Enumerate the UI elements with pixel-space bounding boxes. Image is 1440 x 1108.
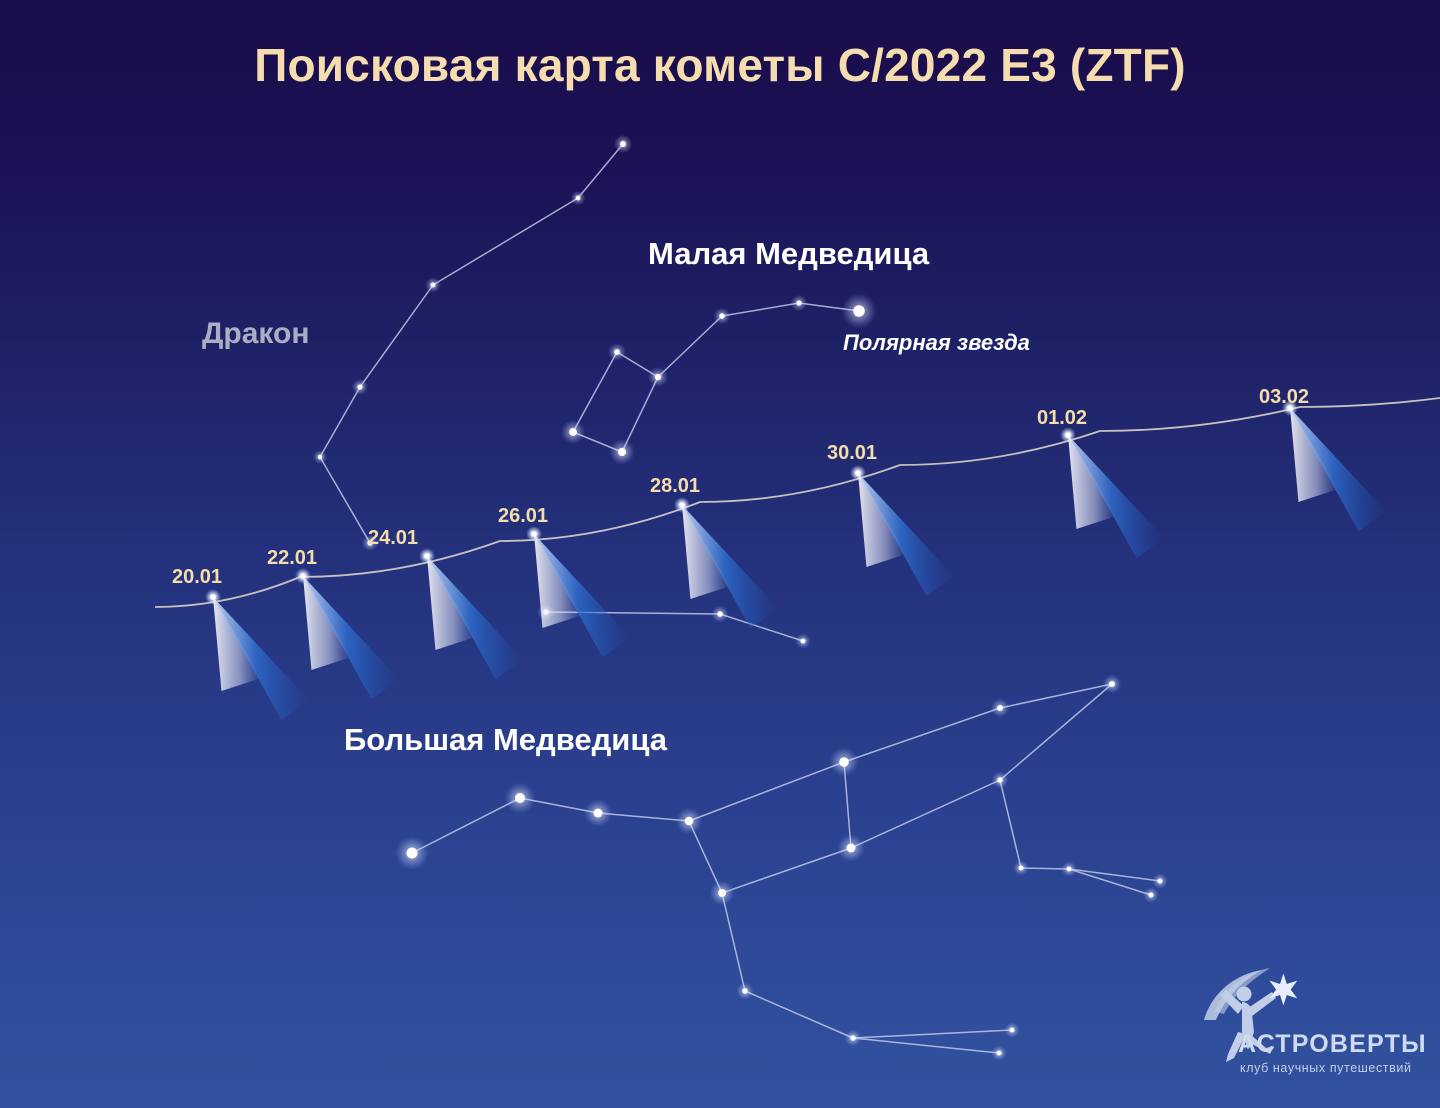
comet-markers-group: [205, 400, 1386, 720]
constellation-line: [689, 762, 844, 821]
star: [839, 757, 849, 767]
comet-marker-01-02: [1060, 427, 1164, 558]
comet-marker-30-01: [850, 465, 954, 596]
star: [717, 611, 723, 617]
constellation-line: [1069, 869, 1151, 895]
constellation-line: [722, 848, 851, 893]
star: [1149, 893, 1154, 898]
comet-marker-26-01: [526, 526, 630, 657]
star: [742, 988, 748, 994]
star: [719, 313, 725, 319]
comet-head: [210, 594, 216, 600]
constellation-line: [851, 780, 1000, 848]
comet-head: [531, 531, 537, 537]
comet-head: [679, 502, 685, 508]
constellation-line: [722, 303, 799, 316]
constellation-line: [745, 991, 853, 1038]
star: [1019, 866, 1024, 871]
star: [801, 639, 806, 644]
star-chart-page: Поисковая карта кометы C/2022 E3 (ZTF) М…: [0, 0, 1440, 1108]
constellation-line: [360, 285, 433, 387]
star: [718, 889, 726, 897]
constellation-line: [722, 893, 745, 991]
sky-canvas: [0, 0, 1440, 1108]
star: [357, 384, 362, 389]
star: [318, 455, 323, 460]
star: [569, 428, 577, 436]
comet-head: [855, 470, 861, 476]
star: [655, 374, 662, 381]
constellation-line: [844, 708, 1000, 762]
constellation-line: [320, 457, 370, 543]
comet-marker-20-01: [205, 589, 309, 720]
star: [796, 300, 801, 305]
comet-track-group: [155, 398, 1440, 607]
brand-logo: АСТРОВЕРТЫ клуб научных путешествий: [1196, 962, 1426, 1094]
star: [1067, 867, 1072, 872]
constellation-line: [1069, 869, 1160, 881]
constellation-line: [1000, 684, 1112, 780]
star: [1010, 1028, 1015, 1033]
page-title: Поисковая карта кометы C/2022 E3 (ZTF): [0, 38, 1440, 92]
star: [618, 448, 626, 456]
star: [997, 777, 1003, 783]
logo-name: АСТРОВЕРТЫ: [1238, 1030, 1427, 1059]
constellation-line: [578, 144, 623, 198]
star: [997, 1051, 1002, 1056]
comet-head: [1287, 405, 1293, 411]
star: [685, 817, 694, 826]
logo-tagline: клуб научных путешествий: [1240, 1061, 1412, 1075]
comet-marker-03-02: [1282, 400, 1386, 531]
star: [1158, 879, 1163, 884]
star: [997, 705, 1003, 711]
star: [576, 196, 581, 201]
star: [847, 844, 856, 853]
star: [407, 848, 418, 859]
constellation-line: [573, 352, 617, 432]
comet-head: [424, 553, 430, 559]
constellation-line: [853, 1030, 1012, 1038]
star: [431, 283, 436, 288]
constellation-line: [1000, 780, 1021, 868]
constellation-line: [433, 198, 578, 285]
star: [850, 1035, 856, 1041]
comet-trajectory-line: [155, 398, 1440, 607]
constellation-line: [412, 798, 520, 853]
comet-head: [1065, 432, 1071, 438]
comet-marker-22-01: [295, 568, 399, 699]
star: [614, 349, 620, 355]
constellation-line: [320, 387, 360, 457]
comet-head: [300, 573, 306, 579]
star: [594, 809, 603, 818]
star: [515, 793, 525, 803]
constellation-line: [1000, 684, 1112, 708]
star: [620, 141, 626, 147]
star: [1109, 681, 1115, 687]
star: [367, 540, 372, 545]
star-polaris: [853, 305, 865, 317]
constellation-line: [658, 316, 722, 377]
comet-marker-24-01: [419, 548, 523, 679]
constellation-line: [853, 1038, 999, 1053]
